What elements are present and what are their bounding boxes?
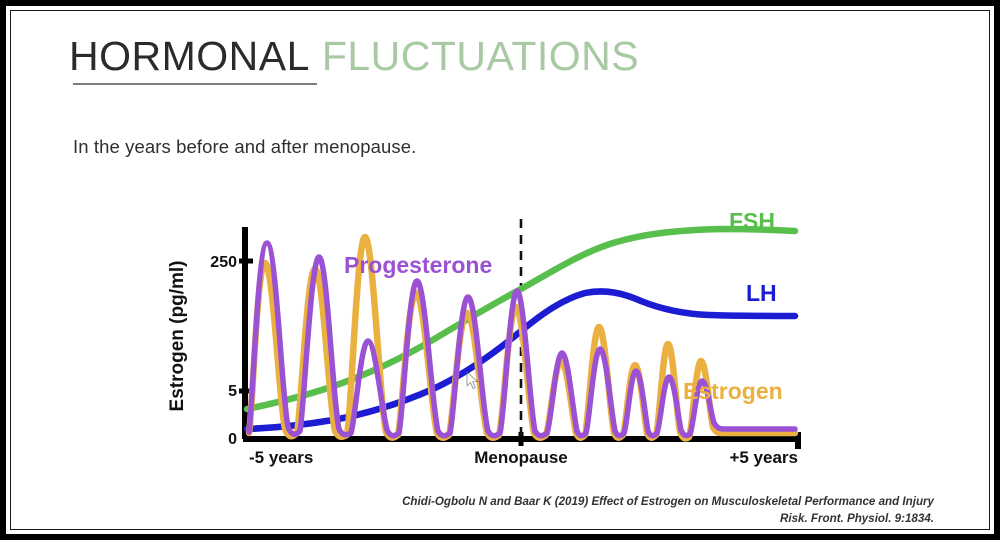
annotation-estrogen: Estrogen xyxy=(683,378,783,404)
annotation-lh: LH xyxy=(746,280,777,306)
y-axis-label: Estrogen (pg/ml) xyxy=(167,261,188,412)
y-tick-5: 5 xyxy=(228,383,237,400)
title-underline xyxy=(73,83,317,85)
x-tick-left: -5 years xyxy=(249,448,313,467)
citation-line-1: Chidi-Ogbolu N and Baar K (2019) Effect … xyxy=(402,495,899,508)
y-tick-250: 250 xyxy=(210,254,237,271)
hormone-chart: Estrogen (pg/ml) 250 5 0 xyxy=(161,201,861,476)
title-primary: HORMONAL xyxy=(69,33,310,79)
annotation-fsh: FSH xyxy=(729,208,775,234)
slide-frame: HORMONAL FLUCTUATIONS In the years befor… xyxy=(0,0,1000,540)
x-tick-right: +5 years xyxy=(729,448,798,467)
title-secondary: FLUCTUATIONS xyxy=(322,33,639,79)
x-tick-center: Menopause xyxy=(474,448,568,467)
annotation-progesterone: Progesterone xyxy=(344,252,492,278)
citation-block: Chidi-Ogbolu N and Baar K (2019) Effect … xyxy=(374,493,934,527)
y-tick-0: 0 xyxy=(228,431,237,448)
page-title: HORMONAL FLUCTUATIONS xyxy=(69,33,929,79)
slide-inner-frame: HORMONAL FLUCTUATIONS In the years befor… xyxy=(10,10,990,530)
subtitle-text: In the years before and after menopause. xyxy=(73,136,416,158)
